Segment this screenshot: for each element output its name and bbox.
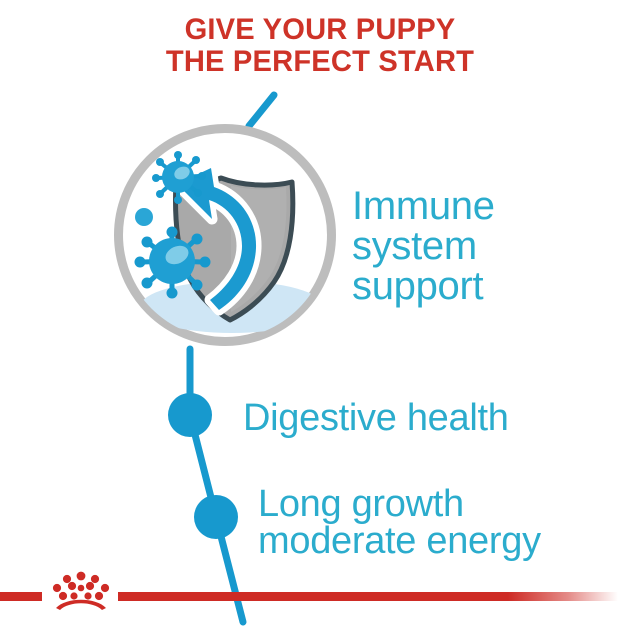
virus-icon-large — [135, 227, 211, 299]
headline-line-1: GIVE YOUR PUPPY — [10, 14, 631, 46]
royal-crown-icon — [44, 568, 118, 614]
virus-icon-small — [152, 151, 206, 204]
germ-dot-icon — [135, 208, 153, 226]
benefit-label-immune: Immune system support — [352, 186, 495, 306]
page-title: GIVE YOUR PUPPY THE PERFECT START — [10, 14, 631, 78]
connector-stem-middle — [190, 415, 216, 517]
benefit-label-growth: Long growth moderate energy — [258, 486, 541, 560]
bullet-dot-digestive[interactable] — [168, 393, 212, 437]
bullet-dot-growth[interactable] — [194, 495, 238, 539]
connector-tick-top — [249, 95, 274, 126]
brand-bar-left-segment — [0, 592, 42, 601]
immune-illustration[interactable] — [114, 124, 336, 346]
headline-line-2: THE PERFECT START — [10, 46, 631, 78]
immune-shield-art — [114, 124, 336, 346]
benefit-label-digestive: Digestive health — [243, 399, 509, 437]
brand-bar-right-segment — [118, 592, 618, 601]
poster-canvas: GIVE YOUR PUPPY THE PERFECT START — [0, 0, 640, 640]
connector-stem-lower — [216, 517, 243, 622]
